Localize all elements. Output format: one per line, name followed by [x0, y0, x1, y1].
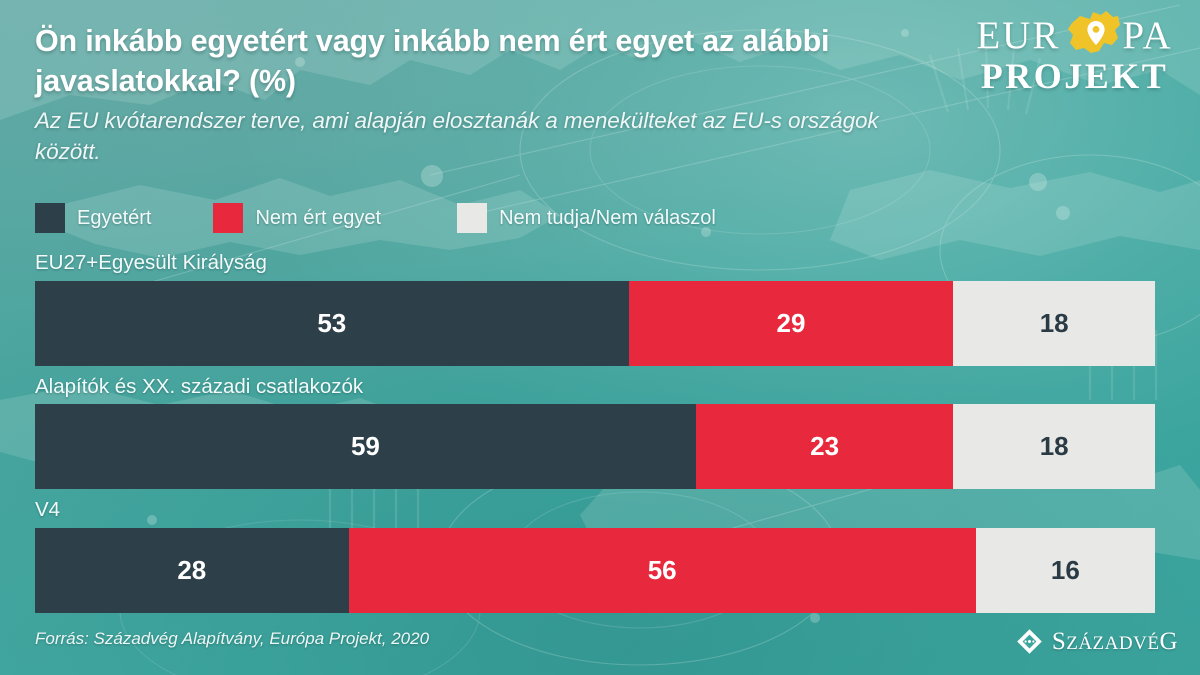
page-title: Ön inkább egyetért vagy inkább nem ért e…	[35, 22, 950, 101]
stacked-bar-chart: EU27+Egyesült Királyság 53 29 18 Alapító…	[35, 252, 1155, 623]
source-note: Forrás: Századvég Alapítvány, Európa Pro…	[35, 629, 429, 649]
bar-segment-agree[interactable]: 59	[35, 404, 696, 489]
europa-projekt-logo: EUR PA PROJEKT	[967, 14, 1182, 106]
bar-segment-dontknow[interactable]: 16	[976, 528, 1155, 613]
szazadveg-logo: SZÁZADVÉG	[1016, 628, 1178, 655]
bar-group-label: EU27+Egyesült Királyság	[35, 252, 1155, 275]
brand-text-after: PA	[1122, 16, 1172, 55]
bar-segment-value: 18	[1040, 308, 1069, 339]
brand-text-before: EUR	[976, 16, 1060, 55]
legend-item-agree: Egyetért	[35, 203, 151, 233]
page-subtitle: Az EU kvótarendszer terve, ami alapján e…	[35, 106, 935, 167]
legend-swatch-agree	[35, 203, 65, 233]
header: Ön inkább egyetért vagy inkább nem ért e…	[35, 22, 985, 167]
bar-group: EU27+Egyesült Királyság 53 29 18	[35, 252, 1155, 366]
bar-segment-disagree[interactable]: 23	[696, 404, 954, 489]
bar-segment-value: 29	[777, 308, 806, 339]
diamond-logo-icon	[1016, 628, 1043, 655]
bar-segment-disagree[interactable]: 29	[629, 281, 954, 366]
europe-map-pin-icon	[1060, 7, 1124, 63]
bar-segment-agree[interactable]: 53	[35, 281, 629, 366]
bar-segment-agree[interactable]: 28	[35, 528, 349, 613]
bar-segment-dontknow[interactable]: 18	[953, 281, 1155, 366]
bar-segment-value: 16	[1051, 555, 1080, 586]
stacked-bar: 59 23 18	[35, 404, 1155, 489]
legend-item-dontknow: Nem tudja/Nem válaszol	[457, 203, 716, 233]
bar-segment-value: 53	[317, 308, 346, 339]
legend-item-disagree: Nem ért egyet	[213, 203, 381, 233]
legend-label-disagree: Nem ért egyet	[255, 207, 381, 230]
bar-segment-disagree[interactable]: 56	[349, 528, 976, 613]
bar-group-label: V4	[35, 499, 1155, 522]
bar-segment-value: 59	[351, 431, 380, 462]
bar-group-label: Alapítók és XX. századi csatlakozók	[35, 376, 1155, 399]
bar-segment-value: 23	[810, 431, 839, 462]
szazadveg-wordmark: SZÁZADVÉG	[1052, 629, 1178, 654]
bar-segment-value: 56	[648, 555, 677, 586]
bar-segment-value: 18	[1040, 431, 1069, 462]
stacked-bar: 53 29 18	[35, 281, 1155, 366]
bar-group: V4 28 56 16	[35, 499, 1155, 613]
legend-swatch-dontknow	[457, 203, 487, 233]
brand-line-bottom: PROJEKT	[967, 58, 1182, 94]
bar-group: Alapítók és XX. századi csatlakozók 59 2…	[35, 376, 1155, 490]
legend-label-agree: Egyetért	[77, 207, 151, 230]
legend-label-dontknow: Nem tudja/Nem válaszol	[499, 207, 716, 230]
chart-legend: Egyetért Nem ért egyet Nem tudja/Nem vál…	[35, 203, 716, 233]
brand-line-top: EUR PA	[967, 14, 1182, 56]
legend-swatch-disagree	[213, 203, 243, 233]
stacked-bar: 28 56 16	[35, 528, 1155, 613]
bar-segment-value: 28	[177, 555, 206, 586]
bar-segment-dontknow[interactable]: 18	[953, 404, 1155, 489]
